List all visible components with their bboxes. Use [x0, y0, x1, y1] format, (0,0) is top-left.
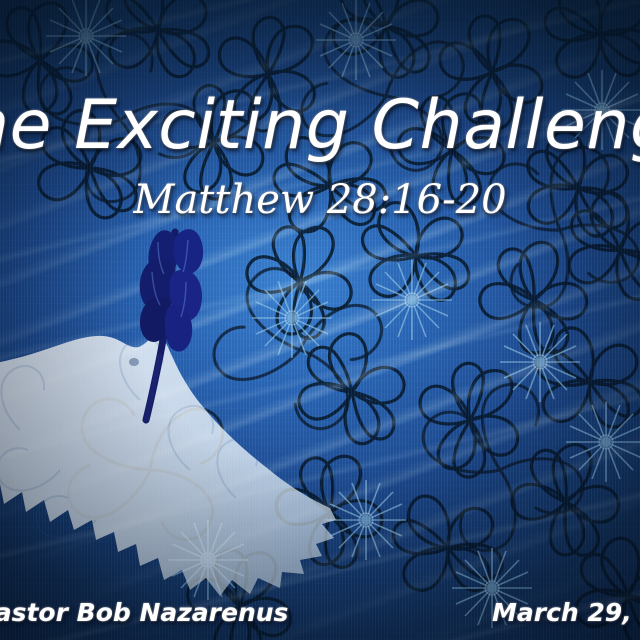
scripture-reference: Matthew 28:16-20: [133, 180, 506, 220]
slide-date: March 29, 2: [492, 598, 640, 627]
speaker-name: Pastor Bob Nazarenus: [0, 598, 288, 627]
sermon-title-slide: The Exciting Challenge Matthew 28:16-20 …: [0, 0, 640, 640]
slide-title: The Exciting Challenge: [0, 92, 640, 160]
